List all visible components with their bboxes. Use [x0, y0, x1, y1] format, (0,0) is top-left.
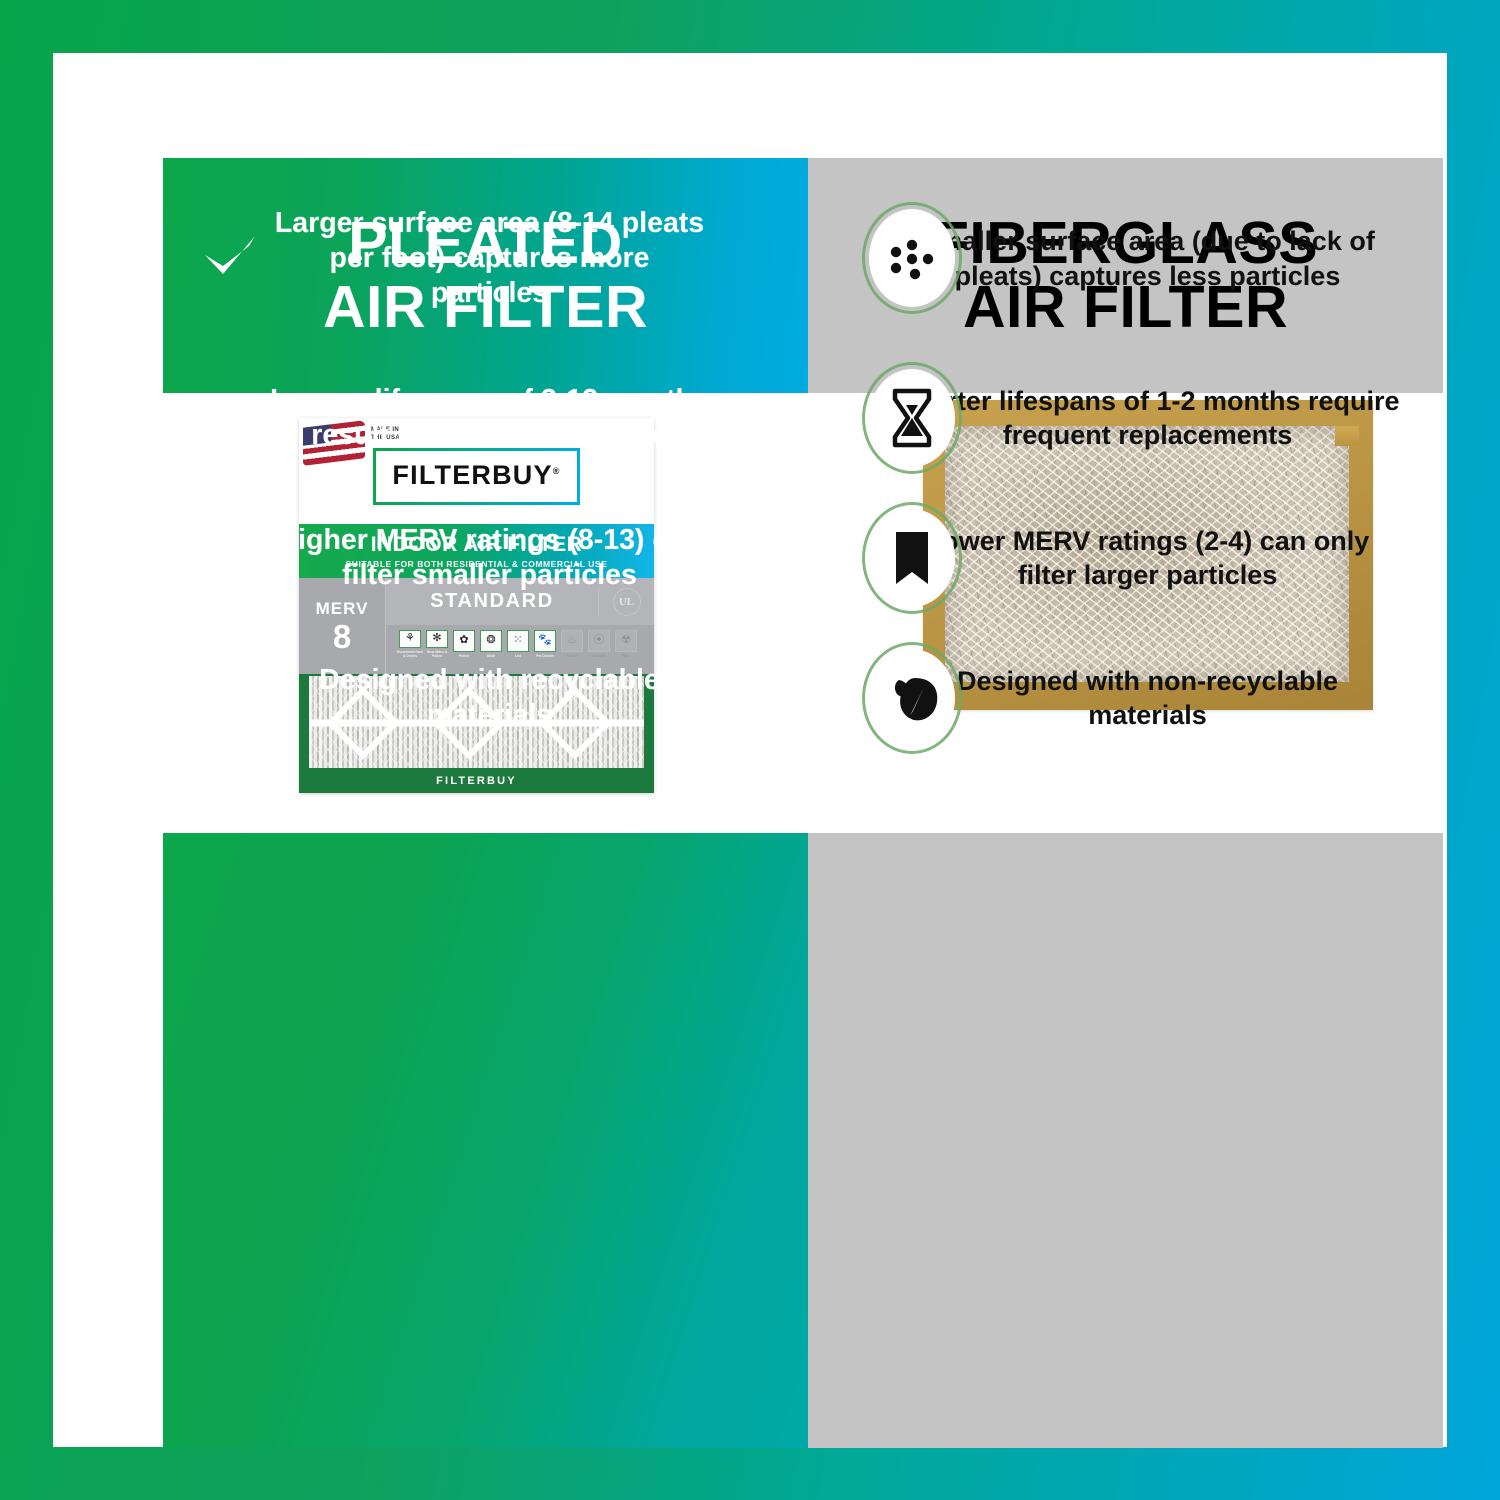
- comparison-band: [163, 833, 1443, 1448]
- infographic-stage: PLEATED AIR FILTER FIBERGLASS AIR FILTER…: [163, 158, 1443, 1448]
- row-left-cell: Designed with recyclable materials: [163, 663, 808, 733]
- comparison-left-column: [163, 833, 808, 1448]
- row-left-text: Higher MERV ratings (8-13) can filter sm…: [267, 523, 712, 593]
- particles-dots-icon: [862, 202, 962, 314]
- row-left-cell: Higher MERV ratings (8-13) can filter sm…: [163, 523, 808, 593]
- row-left-cell: Longer lifespans of 3-12 months result i…: [163, 383, 808, 453]
- row-left-text: Larger surface area (8-14 pleats per foo…: [267, 206, 712, 311]
- badge-core: [869, 369, 955, 467]
- checkmark-icon: [199, 527, 261, 589]
- checkmark-icon: [199, 387, 261, 449]
- comparison-right-column: [808, 833, 1443, 1448]
- comparison-row: Higher MERV ratings (8-13) can filter sm…: [163, 498, 1443, 618]
- bookmark-ribbon-icon: [862, 502, 962, 614]
- comparison-rows: Larger surface area (8-14 pleats per foo…: [163, 158, 1443, 773]
- badge-core: [869, 509, 955, 607]
- row-right-text: Smaller surface area (due to lack of ple…: [894, 224, 1401, 292]
- checkmark-icon: [199, 227, 261, 289]
- row-right-text: Designed with non-recyclable materials: [894, 664, 1401, 732]
- white-card-frame: PLEATED AIR FILTER FIBERGLASS AIR FILTER…: [53, 53, 1447, 1447]
- row-left-text: Designed with recyclable materials: [267, 663, 712, 733]
- badge-core: [869, 209, 955, 307]
- row-left-cell: Larger surface area (8-14 pleats per foo…: [163, 206, 808, 311]
- row-right-text: Lower MERV ratings (2-4) can only filter…: [894, 524, 1401, 592]
- row-right-text: Shorter lifespans of 1-2 months require …: [894, 384, 1401, 452]
- row-left-text: Longer lifespans of 3-12 months result i…: [267, 383, 712, 453]
- badge-core: [869, 649, 955, 747]
- comparison-row: Larger surface area (8-14 pleats per foo…: [163, 186, 1443, 331]
- hourglass-icon: [862, 362, 962, 474]
- comparison-row: Designed with recyclable materials Desig…: [163, 638, 1443, 758]
- comparison-row: Longer lifespans of 3-12 months result i…: [163, 358, 1443, 478]
- leaf-eco-icon: [862, 642, 962, 754]
- checkmark-icon: [199, 667, 261, 729]
